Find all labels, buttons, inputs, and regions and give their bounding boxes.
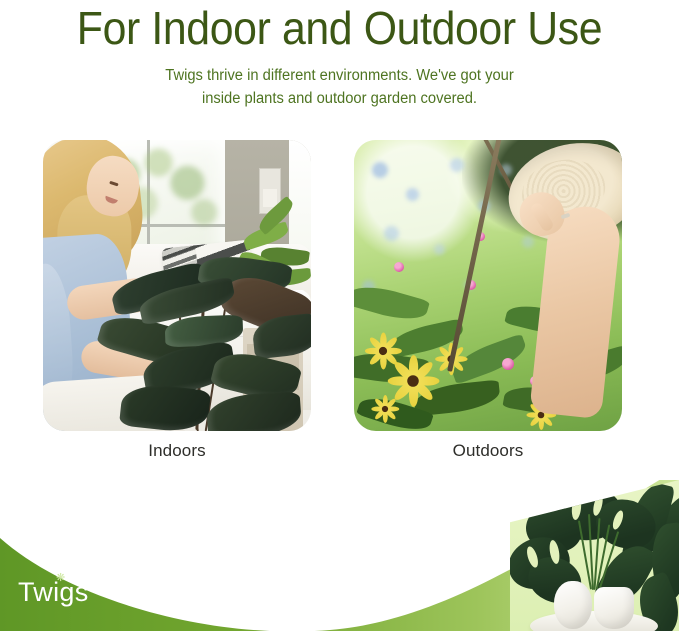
pink-flower <box>502 358 514 370</box>
grass-blades <box>576 514 616 590</box>
page-subtitle-line-2: inside plants and outdoor garden covered… <box>17 87 662 110</box>
plant-leaf <box>165 315 244 348</box>
card-indoors: Indoors <box>43 140 311 431</box>
brand-banner: Twigs ❋ <box>0 480 679 631</box>
white-pot <box>554 581 592 629</box>
card-caption-outdoors: Outdoors <box>354 440 622 462</box>
yellow-daisy <box>371 395 400 424</box>
feature-cards: Indoors <box>0 140 679 440</box>
photo-indoors <box>43 140 311 431</box>
sprout-icon: ❋ <box>56 574 66 583</box>
card-caption-indoors: Indoors <box>43 440 311 462</box>
white-pot <box>594 587 634 629</box>
page-subtitle-line-1: Twigs thrive in different environments. … <box>17 64 662 87</box>
photo-outdoors <box>354 140 622 431</box>
woman-eye <box>109 181 118 187</box>
page-subtitle: Twigs thrive in different environments. … <box>17 64 662 110</box>
card-outdoors: Outdoors <box>354 140 622 431</box>
pink-flower <box>394 262 404 272</box>
plant-leaf <box>119 382 211 431</box>
woman-lip <box>104 196 118 205</box>
plant-leaf <box>206 391 303 431</box>
page-title: For Indoor and Outdoor Use <box>24 2 655 54</box>
brand-logo: Twigs ❋ <box>18 577 89 607</box>
brand-name: Twigs <box>18 577 89 607</box>
